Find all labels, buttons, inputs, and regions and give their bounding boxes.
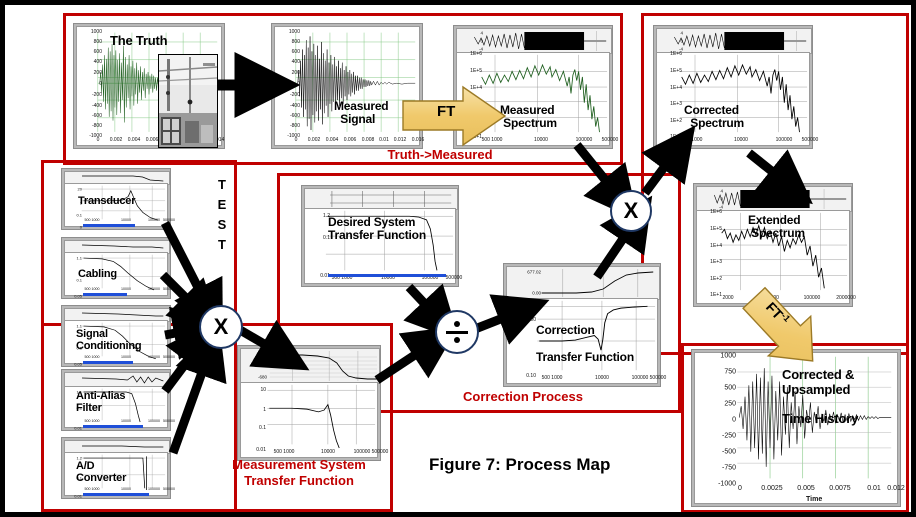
- divide-glyph: [437, 312, 477, 352]
- time-history-x-axis-title: Time: [806, 496, 822, 503]
- panel-cabling: 1.10.1 0.05 500 100010000 100000500000 C…: [61, 237, 171, 299]
- panel-correction-tf-caption: CorrectionTransfer Function: [536, 324, 634, 364]
- panel-anti-alias-caption: Anti-AliasFilter: [76, 390, 125, 415]
- correction-tf-phase: 677.020.00: [506, 266, 660, 300]
- panel-extended-spectrum-caption: Extended Spectrum: [748, 214, 805, 241]
- operator-multiply-spectrum-label: X: [624, 200, 639, 222]
- desired-system-band: [328, 274, 446, 277]
- panel-signal-conditioning: 1.10.1 0.05 500 100010000 100000500000 S…: [61, 305, 171, 367]
- measurement-tf-phase: 0.0-680: [240, 348, 380, 384]
- corrected-spectrum-x-axis: 500 100010000 100000500000: [656, 137, 810, 146]
- panel-truth-caption: The Truth: [110, 34, 167, 49]
- figure-caption: Figure 7: Process Map: [429, 455, 610, 475]
- ft-inverse-arrow: [727, 273, 837, 383]
- measured-signal-y-axis: 1000800 600400 2000 -200-400 -600-800 -1…: [275, 26, 301, 146]
- measured-signal-x-axis: 00.002 0.0040.006 0.0080.01 0.0120.016: [274, 137, 420, 146]
- panel-anti-alias-filter: 1.10.1 0.01 500 100010000 100000500000 A…: [61, 369, 171, 431]
- correction-tf-x-axis: 500 100010000 100000500000: [506, 375, 658, 384]
- group-label-test: TEST: [211, 175, 233, 256]
- ad-converter-band: [83, 493, 149, 496]
- operator-multiply-test[interactable]: X: [199, 305, 243, 349]
- panel-ad-converter-caption: A/DConverter: [76, 460, 126, 485]
- panel-cabling-caption: Cabling: [78, 268, 117, 280]
- panel-transducer-caption: Transducer: [78, 195, 135, 207]
- signal-conditioning-band: [83, 361, 133, 364]
- operator-multiply-test-label: X: [214, 316, 229, 338]
- panel-desired-system-caption: Desired SystemTransfer Function: [328, 216, 426, 243]
- figure-canvas: 1000800 600400 2000 -200-400 -600-800 -1…: [0, 0, 916, 517]
- panel-desired-system-tf: 1.20.1 0.01 500 100010000 100000500000 D…: [301, 185, 459, 287]
- group-label-measurement-system: Measurement SystemTransfer Function: [189, 457, 409, 488]
- group-label-truth-measured: Truth->Measured: [335, 147, 545, 163]
- panel-corrected-spectrum: 40-4 1E+61E+5 1E+41E+3 1E+21E+1: [653, 25, 813, 149]
- panel-corrected-spectrum-caption: Corrected Spectrum: [684, 104, 744, 131]
- operator-multiply-spectrum[interactable]: X: [610, 190, 652, 232]
- ft-arrow-label: FT: [437, 103, 455, 120]
- test-article-photo: [158, 54, 218, 148]
- time-history-x-axis: 00.0025 0.0050.0075 0.010.012: [694, 485, 898, 494]
- cabling-band: [83, 293, 127, 296]
- operator-divide[interactable]: [435, 310, 479, 354]
- truth-y-axis: 1000800 600400 2000 -200-400 -600-800 -1…: [77, 26, 103, 146]
- panel-transducer: 201 0.10 500 100010000 100000500000 Tran…: [61, 168, 171, 230]
- panel-truth: 1000800 600400 2000 -200-400 -600-800 -1…: [73, 23, 225, 149]
- panel-correction-tf: 677.020.00 30.0010.00 0.10: [503, 263, 661, 387]
- anti-alias-band: [83, 425, 143, 428]
- group-label-correction-process: Correction Process: [423, 389, 623, 405]
- panel-measured-signal-caption: Measured Signal: [334, 100, 388, 127]
- transducer-band: [83, 224, 135, 227]
- panel-signal-conditioning-caption: SignalConditioning: [76, 328, 141, 353]
- panel-measurement-system-tf: 0.0-680 101 0.10.01 50: [237, 345, 381, 461]
- panel-ad-converter: 1.20.1 0.01 500 100010000 100000500000 A…: [61, 437, 171, 499]
- panel-measured-spectrum-caption: Measured Spectrum: [500, 104, 557, 131]
